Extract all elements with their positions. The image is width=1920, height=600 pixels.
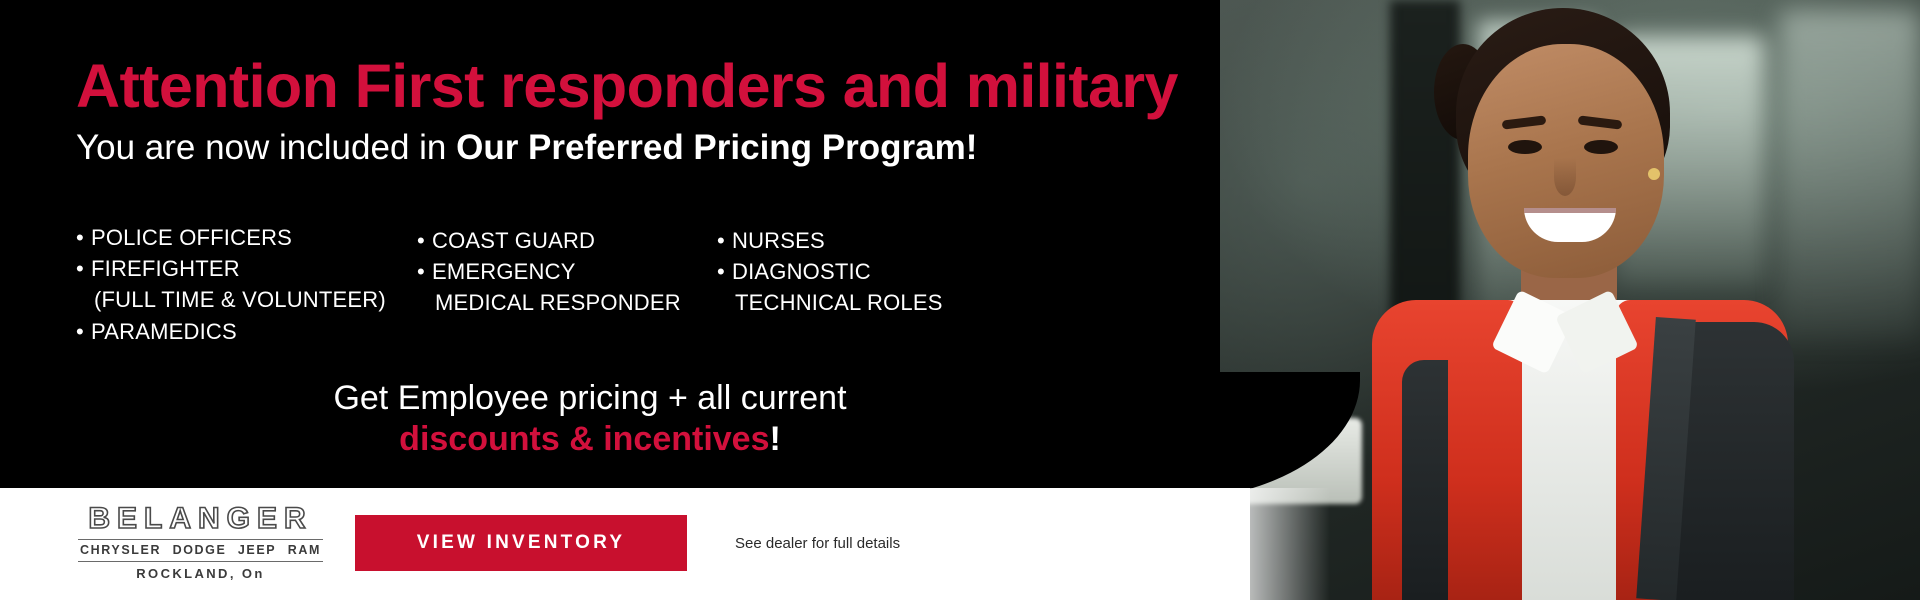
vest-dark-panel-left — [1402, 360, 1448, 600]
view-inventory-button[interactable]: VIEW INVENTORY — [355, 515, 687, 571]
bullet-icon: • — [717, 256, 732, 287]
list-item-label: PARAMEDICS — [91, 319, 237, 344]
brand-jeep: JEEP — [238, 543, 276, 557]
eligibility-column-2: •COAST GUARD •EMERGENCY MEDICAL RESPONDE… — [417, 225, 681, 319]
list-item-subtext: MEDICAL RESPONDER — [417, 287, 681, 318]
first-responder-portrait — [1316, 0, 1836, 600]
subheadline-emphasis: Our Preferred Pricing Program! — [456, 128, 977, 167]
eligibility-column-3: •NURSES •DIAGNOSTIC TECHNICAL ROLES — [717, 225, 943, 319]
dealer-logo-brands: CHRYSLER DODGE JEEP RAM — [78, 543, 323, 557]
offer-highlight: discounts & incentives — [399, 420, 769, 458]
list-item-label: EMERGENCY — [432, 259, 576, 284]
list-item: •EMERGENCY — [417, 256, 681, 287]
dealer-location: ROCKLAND, On — [78, 566, 323, 581]
list-item: •FIREFIGHTER — [76, 253, 386, 284]
logo-divider-top — [78, 539, 323, 540]
bullet-icon: • — [76, 253, 91, 284]
brand-dodge: DODGE — [173, 543, 227, 557]
list-item: •PARAMEDICS — [76, 316, 386, 347]
offer-exclamation: ! — [770, 420, 781, 458]
list-item-label: NURSES — [732, 228, 825, 253]
list-item-label: POLICE OFFICERS — [91, 225, 292, 250]
earring — [1648, 168, 1660, 180]
bullet-icon: • — [417, 225, 432, 256]
offer-message: Get Employee pricing + all current disco… — [0, 378, 1180, 461]
list-item: •POLICE OFFICERS — [76, 222, 386, 253]
bullet-icon: • — [717, 225, 732, 256]
promo-banner: Attention First responders and military … — [0, 0, 1920, 600]
dealer-logo-name: BELANGER — [78, 504, 323, 534]
list-item: •COAST GUARD — [417, 225, 681, 256]
list-item: •NURSES — [717, 225, 943, 256]
nose — [1554, 158, 1576, 196]
disclaimer-text: See dealer for full details — [735, 535, 900, 552]
eye-left — [1508, 140, 1542, 154]
list-item-label: DIAGNOSTIC — [732, 259, 871, 284]
list-item-label: FIREFIGHTER — [91, 256, 240, 281]
bullet-icon: • — [76, 222, 91, 253]
eye-right — [1584, 140, 1618, 154]
dealer-logo[interactable]: BELANGER CHRYSLER DODGE JEEP RAM ROCKLAN… — [78, 504, 323, 581]
bullet-icon: • — [76, 316, 91, 347]
brand-chrysler: CHRYSLER — [80, 543, 161, 557]
list-item: •DIAGNOSTIC — [717, 256, 943, 287]
footer-bar: BELANGER CHRYSLER DODGE JEEP RAM ROCKLAN… — [0, 488, 1250, 600]
page-title: Attention First responders and military — [76, 56, 1178, 117]
offer-line-1: Get Employee pricing + all current — [0, 378, 1180, 419]
subheadline: You are now included in Our Preferred Pr… — [76, 130, 977, 165]
offer-line-2: discounts & incentives! — [0, 419, 1180, 460]
brand-ram: RAM — [288, 543, 321, 557]
list-item-label: COAST GUARD — [432, 228, 595, 253]
bullet-icon: • — [417, 256, 432, 287]
logo-divider-bottom — [78, 561, 323, 562]
list-item-subtext: TECHNICAL ROLES — [717, 287, 943, 318]
eligibility-column-1: •POLICE OFFICERS •FIREFIGHTER (FULL TIME… — [76, 222, 386, 347]
footer-gradient-overlay — [1150, 488, 1330, 600]
subheadline-prefix: You are now included in — [76, 128, 456, 167]
list-item-subtext: (FULL TIME & VOLUNTEER) — [76, 284, 386, 315]
